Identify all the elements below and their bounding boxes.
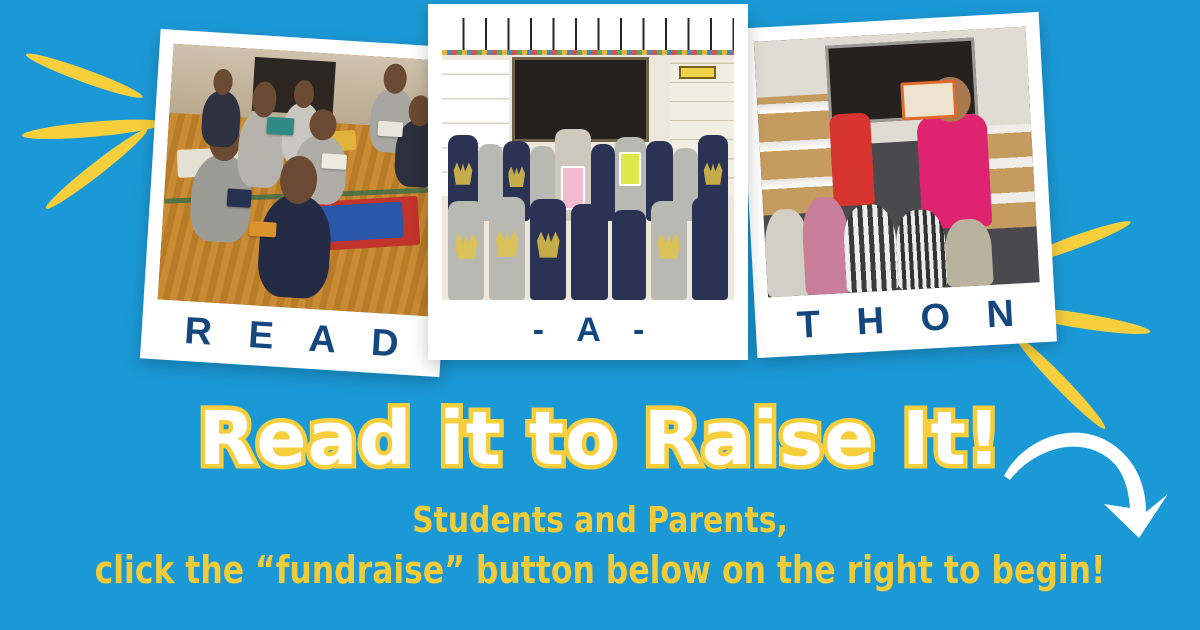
- photo-students-reading-on-floor: [158, 44, 446, 317]
- curved-down-arrow-icon: [1000, 420, 1180, 540]
- polaroid-caption-a: - A -: [442, 300, 734, 360]
- polaroid-card-thon[interactable]: T H O N: [739, 12, 1057, 358]
- polaroid-card-read[interactable]: R E A D: [140, 29, 460, 377]
- subtitle-line-2: click the “fundraise” button below on th…: [48, 548, 1152, 592]
- poster-canvas: R E A D T H O N: [0, 0, 1200, 630]
- photo-teacher-read-aloud: [754, 27, 1040, 298]
- photo-class-group-with-books: [442, 18, 734, 300]
- polaroid-card-a[interactable]: - A -: [428, 4, 748, 360]
- subtitle-line-1: Students and Parents,: [48, 500, 1152, 541]
